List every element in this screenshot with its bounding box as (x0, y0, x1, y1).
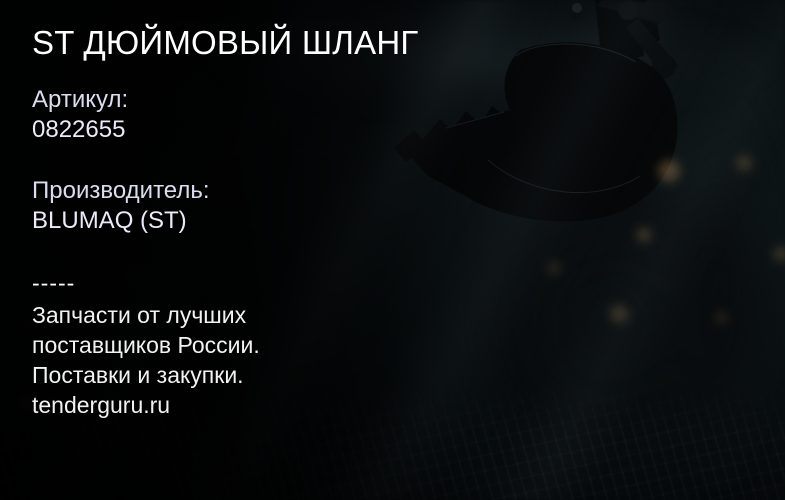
promo-line-3: Поставки и закупки. (32, 360, 260, 390)
promo-line-2: поставщиков России. (32, 330, 260, 360)
manufacturer-label: Производитель: (32, 176, 210, 206)
product-title: ST ДЮЙМОВЫЙ ШЛАНГ (32, 24, 418, 62)
article-label: Артикул: (32, 85, 128, 115)
product-banner: ST ДЮЙМОВЫЙ ШЛАНГ Артикул: 0822655 Произ… (0, 0, 785, 500)
promo-line-1: Запчасти от лучших (32, 300, 260, 330)
promo-divider: ----- (32, 270, 260, 296)
article-field: Артикул: 0822655 (32, 85, 128, 145)
banner-content: ST ДЮЙМОВЫЙ ШЛАНГ Артикул: 0822655 Произ… (32, 0, 502, 500)
article-value: 0822655 (32, 115, 128, 145)
manufacturer-value: BLUMAQ (ST) (32, 206, 210, 236)
promo-website: tenderguru.ru (32, 390, 260, 420)
manufacturer-field: Производитель: BLUMAQ (ST) (32, 176, 210, 236)
promo-block: ----- Запчасти от лучших поставщиков Рос… (32, 270, 260, 420)
